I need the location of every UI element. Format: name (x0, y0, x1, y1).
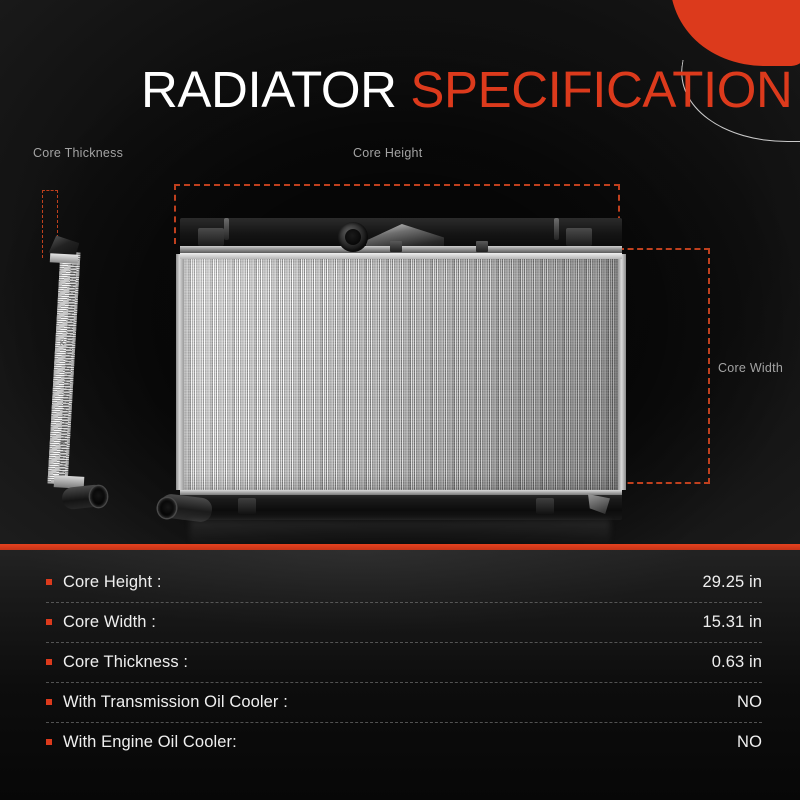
core-shading (182, 254, 620, 490)
radiator-specification-page: RADIATOR SPECIFICATION Core Thickness Co… (0, 0, 800, 800)
title-word-specification: SPECIFICATION (410, 61, 792, 118)
bottom-tank-highlight (180, 490, 622, 495)
spec-label: Core Width : (63, 613, 156, 632)
top-tank-tab-one (390, 241, 402, 252)
side-top-cap (50, 253, 78, 264)
bullet-icon (46, 699, 52, 705)
annotation-core-height: Core Height (353, 146, 422, 160)
radiator-reflection (190, 520, 610, 546)
title-word-radiator: RADIATOR (141, 61, 397, 118)
side-marking-one: K (60, 340, 65, 347)
table-row: With Transmission Oil Cooler : NO (0, 682, 800, 722)
core-side-edge-right (618, 254, 626, 490)
radiator-front-view (176, 206, 626, 518)
table-row: With Engine Oil Cooler: NO (0, 722, 800, 762)
spec-value: NO (737, 693, 762, 712)
bottom-mount-foot-left (238, 498, 256, 514)
annotation-core-width: Core Width (718, 361, 783, 375)
spec-value: NO (737, 733, 762, 752)
mounting-pin-left (224, 218, 229, 240)
spec-value: 29.25 in (702, 573, 762, 592)
spec-value: 0.63 in (712, 653, 762, 672)
radiator-core-fins (182, 254, 620, 490)
spec-value: 15.31 in (702, 613, 762, 632)
bottom-mount-foot-right (536, 498, 554, 514)
specification-table: Core Height : 29.25 in Core Width : 15.3… (0, 562, 800, 762)
page-title: RADIATOR SPECIFICATION (141, 64, 792, 115)
side-hose-opening (90, 486, 107, 507)
annotation-core-thickness: Core Thickness (33, 146, 123, 160)
mounting-bracket-left (198, 228, 224, 246)
table-row: Core Thickness : 0.63 in (0, 642, 800, 682)
spec-label: With Engine Oil Cooler: (63, 733, 237, 752)
bullet-icon (46, 739, 52, 745)
filler-neck-opening (345, 229, 361, 245)
bullet-icon (46, 619, 52, 625)
top-tank-tab-two (476, 241, 488, 252)
side-marking-two: H (60, 440, 65, 447)
radiator-side-view: K H (38, 228, 106, 528)
table-row: Core Width : 15.31 in (0, 602, 800, 642)
top-tank-lip (180, 253, 622, 259)
bullet-icon (46, 579, 52, 585)
mounting-pin-right (554, 218, 559, 240)
bullet-icon (46, 659, 52, 665)
red-divider-bar (0, 544, 800, 550)
spec-label: With Transmission Oil Cooler : (63, 693, 288, 712)
mounting-bracket-right (566, 228, 592, 246)
spec-label: Core Height : (63, 573, 162, 592)
dimension-bracket-core-width (618, 248, 710, 484)
core-side-edge-left (176, 254, 184, 490)
spec-label: Core Thickness : (63, 653, 188, 672)
table-row: Core Height : 29.25 in (0, 562, 800, 602)
